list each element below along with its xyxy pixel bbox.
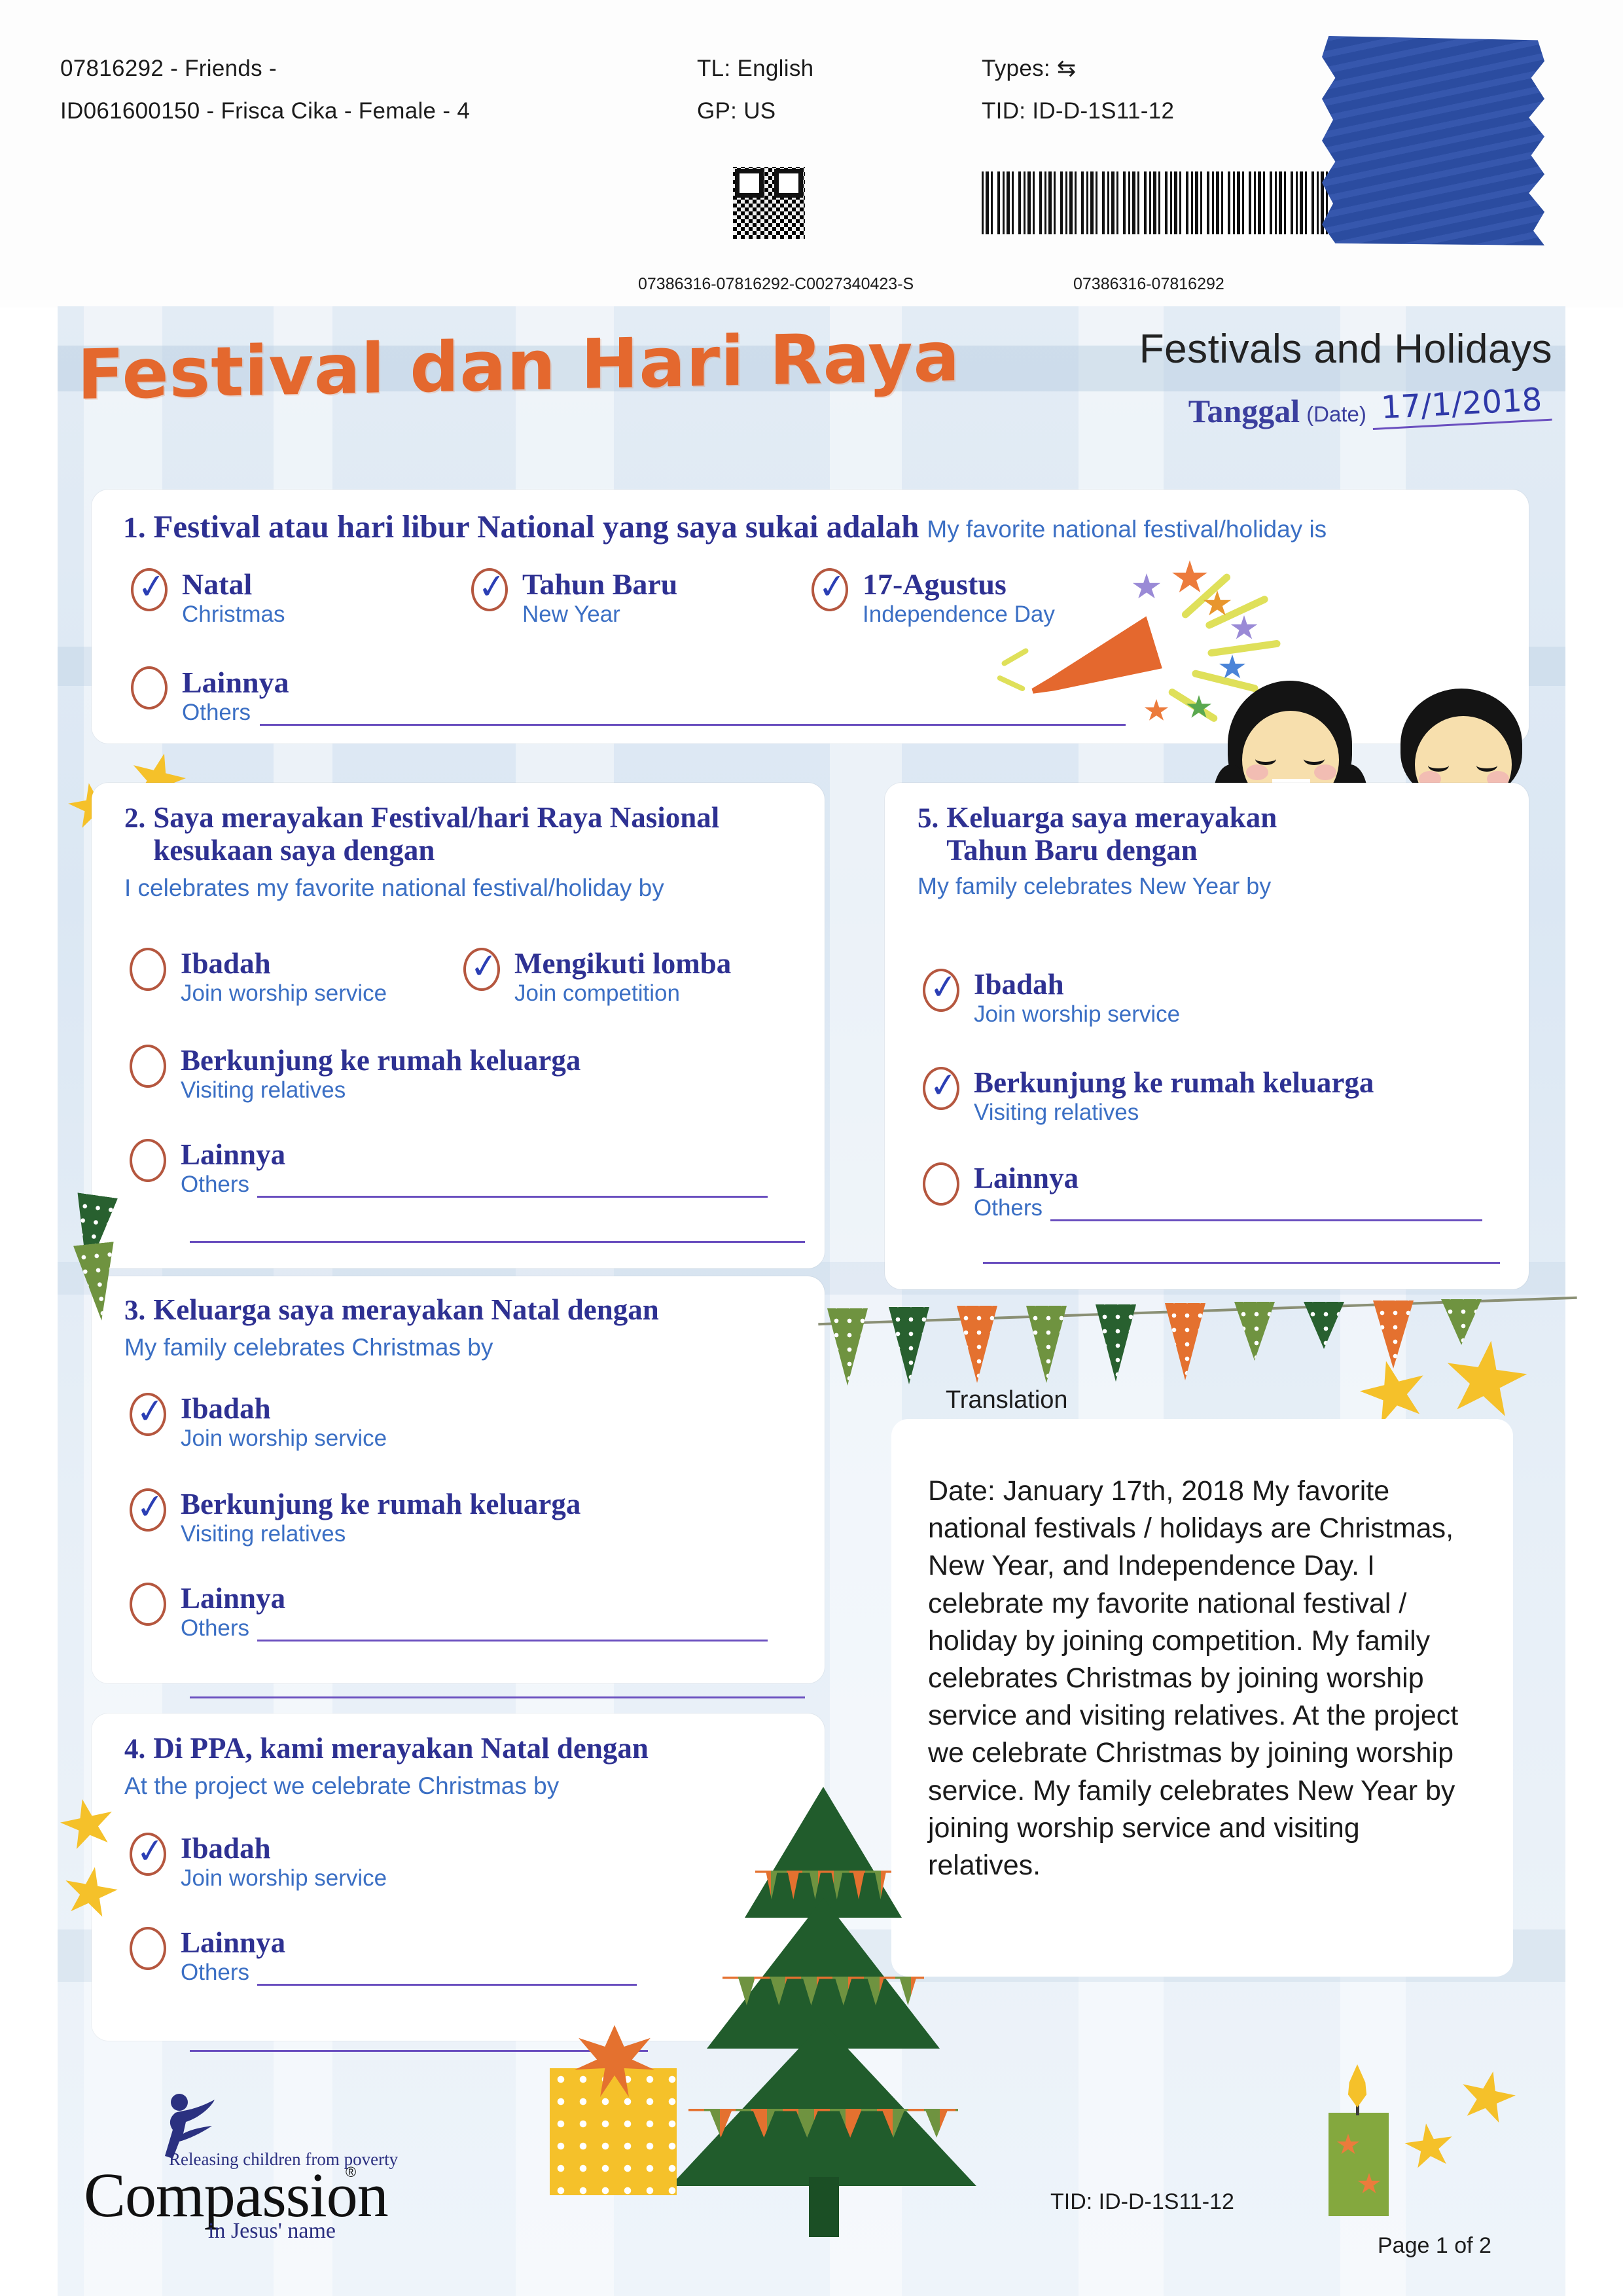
check-mark-icon: ✓ [135, 1395, 164, 1428]
barcode [982, 171, 1329, 234]
date-handwritten-value[interactable]: 17/1/2018 [1371, 381, 1552, 430]
option-q2-lainnya[interactable]: Lainnya Others [130, 1138, 791, 1198]
option-q4-lainnya-label-en: Others [181, 1960, 249, 1986]
q2-others-fill-line-2[interactable] [190, 1241, 805, 1243]
question-5-number: 5. [918, 803, 938, 834]
option-q1-lainnya-label-id: Lainnya [182, 665, 1126, 700]
check-mark-icon: ✓ [817, 571, 846, 603]
check-mark-icon: ✓ [469, 950, 498, 983]
title-english: Festivals and Holidays [1139, 326, 1552, 372]
option-q2-berkunjung-label-id: Berkunjung ke rumah keluarga [181, 1043, 784, 1077]
header-global-partner: GP: US [697, 98, 776, 124]
option-q5-lainnya[interactable]: Lainnya Others [923, 1161, 1499, 1221]
header-child-info: ID061600150 - Frisca Cika - Female - 4 [60, 98, 470, 124]
option-q3-berkunjung-label-en: Visiting relatives [181, 1521, 784, 1547]
footer-tid: TID: ID-D-1S11-12 [1050, 2189, 1234, 2215]
blue-marker-redaction [1322, 36, 1544, 245]
option-q2-mengikuti-lomba-label-en: Join competition [514, 980, 791, 1007]
document-page: 07816292 - Friends - ID061600150 - Frisc… [0, 0, 1623, 2296]
q5-others-fill-line-2[interactable] [983, 1262, 1500, 1264]
option-q3-ibadah[interactable]: ✓ Ibadah Join worship service [130, 1391, 522, 1452]
question-5-card: 5. Keluarga saya merayakan Tahun Baru de… [885, 783, 1529, 1289]
q3-others-fill-line[interactable] [257, 1620, 768, 1641]
question-2-card: 2. Saya merayakan Festival/hari Raya Nas… [92, 783, 825, 1268]
option-17-agustus-label-en: Independence Day [863, 601, 1152, 628]
option-q5-lainnya-label-en: Others [974, 1195, 1043, 1221]
title-band: Festival dan Hari Raya Festivals and Hol… [58, 306, 1565, 476]
option-q2-lainnya-label-id: Lainnya [181, 1138, 791, 1172]
option-q5-ibadah-label-id: Ibadah [974, 967, 1224, 1001]
checkbox-q4-lainnya[interactable] [130, 1927, 166, 1970]
header-tid: TID: ID-D-1S11-12 [982, 98, 1174, 124]
option-17-agustus-label-id: 17-Agustus [863, 567, 1152, 601]
option-q3-lainnya-label-id: Lainnya [181, 1581, 791, 1615]
check-mark-icon: ✓ [135, 1491, 164, 1524]
option-q2-berkunjung[interactable]: Berkunjung ke rumah keluarga Visiting re… [130, 1043, 784, 1103]
option-q4-lainnya-label-id: Lainnya [181, 1926, 692, 1960]
option-natal[interactable]: ✓ Natal Christmas [131, 567, 406, 628]
q4-others-fill-line-2[interactable] [190, 2050, 648, 2052]
check-mark-icon: ✓ [136, 571, 166, 603]
qr-code [733, 167, 805, 239]
check-mark-icon: ✓ [476, 571, 506, 603]
question-1-text-en: My favorite national festival/holiday is [927, 515, 1327, 544]
check-mark-icon: ✓ [135, 1835, 164, 1868]
question-2-text-id: Saya merayakan Festival/hari Raya Nasion… [153, 801, 785, 867]
header-types: Types: ⇆ [982, 56, 1077, 82]
question-1-text-id: Festival atau hari libur National yang s… [154, 509, 919, 545]
question-2-number: 2. [124, 803, 145, 834]
option-q2-mengikuti-lomba-label-id: Mengikuti lomba [514, 946, 791, 980]
option-q5-ibadah-label-en: Join worship service [974, 1001, 1224, 1028]
checkbox-q5-lainnya[interactable] [923, 1162, 959, 1206]
option-tahun-baru[interactable]: ✓ Tahun Baru New Year [471, 567, 785, 628]
date-label-indonesian: Tanggal [1188, 392, 1300, 430]
option-q3-ibadah-label-id: Ibadah [181, 1391, 522, 1426]
header-friends-id: 07816292 - Friends - [60, 56, 277, 82]
option-q2-ibadah[interactable]: Ibadah Join worship service [130, 946, 418, 1007]
logo-registered-mark: ® [346, 2164, 356, 2181]
compassion-logo: Releasing children from poverty Compassi… [84, 2088, 365, 2251]
question-3-number: 3. [124, 1295, 145, 1327]
option-q2-mengikuti-lomba[interactable]: ✓ Mengikuti lomba Join competition [463, 946, 791, 1007]
compassion-figure-icon [149, 2093, 221, 2159]
qr-code-caption: 07386316-07816292-C0027340423-S [638, 275, 914, 294]
checkbox-q2-lainnya[interactable] [130, 1139, 166, 1182]
logo-subtitle: in Jesus' name [208, 2219, 336, 2244]
question-3-text-en: My family celebrates Christmas by [124, 1333, 811, 1362]
option-q4-ibadah-label-id: Ibadah [181, 1831, 522, 1865]
option-q4-lainnya[interactable]: Lainnya Others [130, 1926, 692, 1986]
option-q5-berkunjung[interactable]: ✓ Berkunjung ke rumah keluarga Visiting … [923, 1066, 1499, 1126]
option-q3-lainnya[interactable]: Lainnya Others [130, 1581, 791, 1641]
question-3-text-id: Keluarga saya merayakan Natal dengan [153, 1293, 659, 1326]
check-mark-icon: ✓ [928, 971, 957, 1004]
option-natal-label-id: Natal [182, 567, 406, 601]
option-q5-berkunjung-label-id: Berkunjung ke rumah keluarga [974, 1066, 1499, 1100]
header-translation-language: TL: English [697, 56, 813, 82]
option-17-agustus[interactable]: ✓ 17-Agustus Independence Day [811, 567, 1152, 628]
checkbox-q2-berkunjung[interactable] [130, 1045, 166, 1088]
question-5-text-id: Keluarga saya merayakan Tahun Baru denga… [946, 801, 1284, 867]
barcode-caption: 07386316-07816292 [1073, 275, 1224, 294]
check-mark-icon: ✓ [928, 1069, 957, 1102]
option-q5-berkunjung-label-en: Visiting relatives [974, 1100, 1499, 1126]
translation-label: Translation [946, 1386, 1068, 1414]
question-1-number: 1. [123, 511, 146, 545]
q4-others-fill-line[interactable] [257, 1964, 637, 1986]
date-field: Tanggal (Date) 17/1/2018 [1188, 390, 1552, 430]
footer-page-number: Page 1 of 2 [1378, 2233, 1491, 2259]
option-q3-berkunjung[interactable]: ✓ Berkunjung ke rumah keluarga Visiting … [130, 1487, 784, 1547]
bunting-garland [818, 1299, 1577, 1404]
title-indonesian: Festival dan Hari Raya [77, 317, 960, 415]
option-q2-lainnya-label-en: Others [181, 1172, 249, 1198]
option-q1-lainnya-label-en: Others [182, 700, 251, 726]
checkbox-q3-lainnya[interactable] [130, 1583, 166, 1626]
option-q3-lainnya-label-en: Others [181, 1615, 249, 1641]
option-q2-ibadah-label-en: Join worship service [181, 980, 418, 1007]
christmas-tree-illustration [660, 1787, 987, 2193]
question-4-number: 4. [124, 1734, 145, 1765]
option-q5-ibadah[interactable]: ✓ Ibadah Join worship service [923, 967, 1224, 1028]
question-5-text-en: My family celebrates New Year by [918, 872, 1284, 900]
q3-others-fill-line-2[interactable] [190, 1696, 805, 1698]
option-q3-ibadah-label-en: Join worship service [181, 1426, 522, 1452]
question-2-text-en: I celebrates my favorite national festiv… [124, 874, 785, 903]
question-4-text-id: Di PPA, kami merayakan Natal dengan [153, 1732, 649, 1765]
option-natal-label-en: Christmas [182, 601, 406, 628]
option-q4-ibadah[interactable]: ✓ Ibadah Join worship service [130, 1831, 522, 1892]
translation-text: Date: January 17th, 2018 My favorite nat… [928, 1473, 1478, 1884]
q1-others-fill-line[interactable] [260, 704, 1126, 726]
option-q2-ibadah-label-id: Ibadah [181, 946, 418, 980]
option-tahun-baru-label-id: Tahun Baru [522, 567, 785, 601]
option-q2-berkunjung-label-en: Visiting relatives [181, 1077, 784, 1103]
q2-others-fill-line[interactable] [257, 1176, 768, 1198]
option-q4-ibadah-label-en: Join worship service [181, 1865, 522, 1892]
q5-others-fill-line[interactable] [1050, 1200, 1482, 1221]
checkbox-q2-ibadah[interactable] [130, 948, 166, 991]
option-tahun-baru-label-en: New Year [522, 601, 785, 628]
option-q5-lainnya-label-id: Lainnya [974, 1161, 1499, 1195]
option-q1-lainnya[interactable]: Lainnya Others [131, 665, 1126, 726]
question-3-card: 3. Keluarga saya merayakan Natal dengan … [92, 1276, 825, 1683]
checkbox-q1-lainnya[interactable] [131, 666, 168, 709]
date-label-english: (Date) [1306, 402, 1366, 430]
option-q3-berkunjung-label-id: Berkunjung ke rumah keluarga [181, 1487, 784, 1521]
